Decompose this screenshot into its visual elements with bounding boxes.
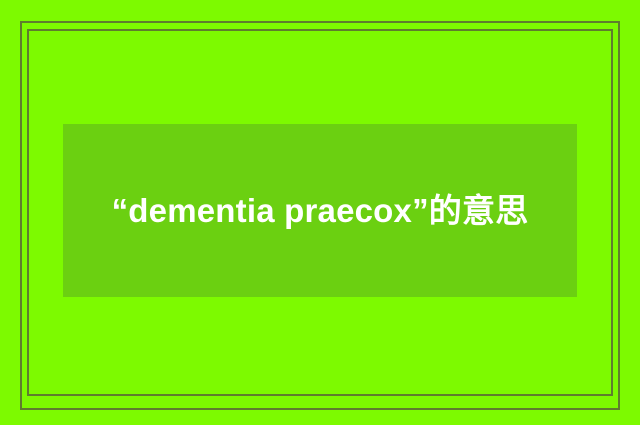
page-canvas: “dementia praecox”的意思 bbox=[0, 0, 640, 425]
title-panel: “dementia praecox”的意思 bbox=[63, 124, 577, 297]
page-title: “dementia praecox”的意思 bbox=[89, 184, 551, 237]
